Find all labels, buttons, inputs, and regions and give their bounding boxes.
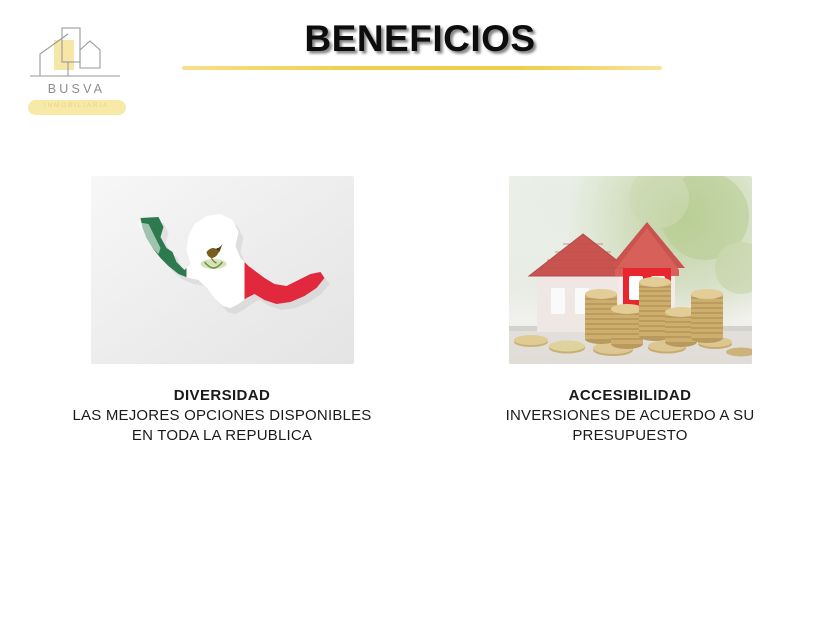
benefit-card-accesibilidad: ACCESIBILIDAD INVERSIONES DE ACUERDO A S… [450,176,810,446]
house-with-coins-image [509,176,752,364]
page-title: BENEFICIOS [0,18,840,60]
benefit-heading: ACCESIBILIDAD [450,386,810,406]
house-coins-illustration [509,176,752,364]
slide-canvas: BUSVA INMOBILIARIA BENEFICIOS [0,0,840,630]
benefit-heading: DIVERSIDAD [17,386,427,406]
logo-wordmark: BUSVA [24,82,129,96]
mexico-flag-map-image [91,176,354,364]
benefit-body-line-2: PRESUPUESTO [450,426,810,446]
title-underline-rule [182,66,662,70]
logo-tagline: INMOBILIARIA [24,102,129,109]
benefit-body-line-1: LAS MEJORES OPCIONES DISPONIBLES [17,406,427,426]
benefit-card-diversidad: DIVERSIDAD LAS MEJORES OPCIONES DISPONIB… [17,176,427,446]
benefit-body-line-1: INVERSIONES DE ACUERDO A SU [450,406,810,426]
benefit-body-line-2: EN TODA LA REPUBLICA [17,426,427,446]
benefit-caption: ACCESIBILIDAD INVERSIONES DE ACUERDO A S… [450,386,810,446]
benefit-caption: DIVERSIDAD LAS MEJORES OPCIONES DISPONIB… [17,386,427,446]
mexico-map-illustration [115,200,330,340]
